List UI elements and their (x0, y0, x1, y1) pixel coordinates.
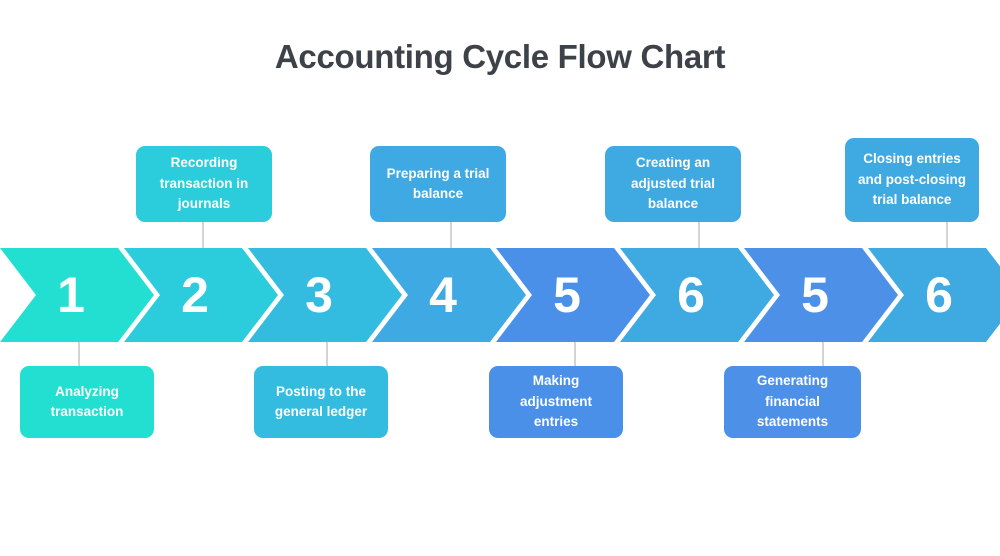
step-label-box-1[interactable]: Analyzing transaction (20, 366, 154, 438)
chevron-number-6: 6 (677, 270, 705, 320)
chevron-step-1[interactable]: 1 (0, 248, 154, 342)
connector-line-2 (202, 222, 204, 250)
step-label-text: Generating financial statements (732, 371, 853, 433)
step-label-text: Preparing a trial balance (378, 164, 498, 205)
step-label-box-3[interactable]: Posting to the general ledger (254, 366, 388, 438)
step-label-box-2[interactable]: Recording transaction in journals (136, 146, 272, 222)
connector-line-3 (326, 340, 328, 366)
step-label-box-7[interactable]: Generating financial statements (724, 366, 861, 438)
connector-line-6 (698, 222, 700, 250)
step-label-box-8[interactable]: Closing entries and post-closing trial b… (845, 138, 979, 222)
chevron-number-8: 6 (925, 270, 953, 320)
connector-line-4 (450, 222, 452, 250)
connector-line-1 (78, 340, 80, 366)
step-label-text: Recording transaction in journals (144, 153, 264, 215)
page-title: Accounting Cycle Flow Chart (0, 38, 1000, 76)
step-label-box-4[interactable]: Preparing a trial balance (370, 146, 506, 222)
chevron-number-1: 1 (57, 270, 85, 320)
step-label-text: Analyzing transaction (28, 382, 146, 423)
connector-line-7 (822, 340, 824, 366)
chevron-number-2: 2 (181, 270, 209, 320)
step-label-text: Making adjustment entries (497, 371, 615, 433)
chevron-number-5: 5 (553, 270, 581, 320)
chevron-number-4: 4 (429, 270, 457, 320)
connector-line-5 (574, 340, 576, 366)
step-label-box-5[interactable]: Making adjustment entries (489, 366, 623, 438)
chevron-number-7: 5 (801, 270, 829, 320)
step-label-box-6[interactable]: Creating an adjusted trial balance (605, 146, 741, 222)
chevron-number-3: 3 (305, 270, 333, 320)
step-label-text: Closing entries and post-closing trial b… (853, 149, 971, 211)
connector-line-8 (946, 222, 948, 250)
step-label-text: Creating an adjusted trial balance (613, 153, 733, 215)
flow-chart-canvas: Accounting Cycle Flow Chart Recording tr… (0, 0, 1000, 556)
chevron-band: 12345656 (0, 248, 1000, 342)
step-label-text: Posting to the general ledger (262, 382, 380, 423)
